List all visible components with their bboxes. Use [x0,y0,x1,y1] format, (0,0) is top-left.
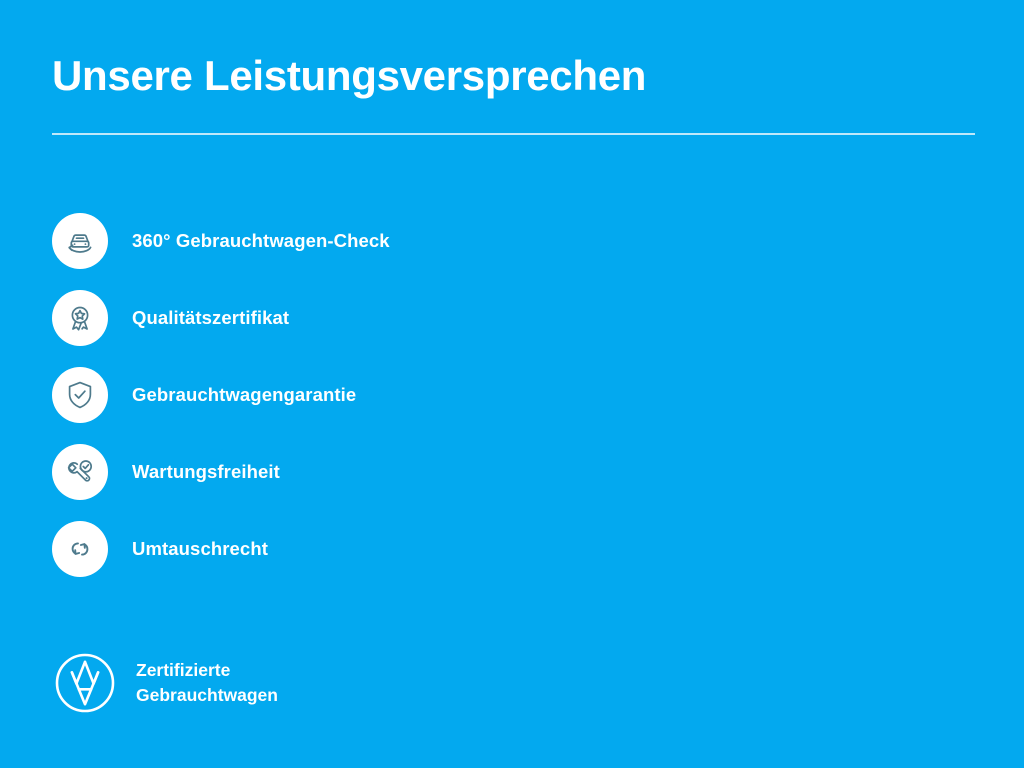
benefit-label: 360° Gebrauchtwagen-Check [132,230,390,252]
benefit-item[interactable]: Versicherungsangebote [520,279,1024,356]
brand-line-2: Gebrauchtwagen [136,683,278,708]
benefit-item[interactable]: Wartungsfreiheit [0,433,520,510]
volkswagen-logo [52,650,118,716]
promo-slide: Unsere Leistungsversprechen 360° Gebrauc… [0,0,1024,768]
header: Unsere Leistungsversprechen [52,52,976,99]
brand-lockup: Zertifizierte Gebrauchtwagen [52,650,278,716]
benefit-label: Wartungsfreiheit [132,461,280,483]
benefit-item[interactable]: Inzahlungnahme [520,356,1024,433]
title-divider [52,133,975,135]
benefit-label: Gebrauchtwagengarantie [132,384,356,406]
benefit-item[interactable]: Umtauschrecht [0,510,520,587]
benefit-item[interactable]: Mobilitätsgarantie [520,433,1024,510]
benefit-item[interactable]: Qualitätszertifikat [0,279,520,356]
benefit-item[interactable]: Ersatzmobilität [520,510,1024,587]
benefit-item[interactable]: Gebrauchtwagengarantie [0,356,520,433]
car-360-check-icon [52,213,108,269]
benefit-item[interactable]: Finanzdienstleistungen [520,202,1024,279]
shield-check-icon [52,367,108,423]
benefits-grid: 360° Gebrauchtwagen-Check Finanzdienstle… [0,202,1024,587]
page-title: Unsere Leistungsversprechen [52,52,976,99]
benefit-label: Qualitätszertifikat [132,307,289,329]
benefit-label: Umtauschrecht [132,538,268,560]
brand-line-1: Zertifizierte [136,658,278,683]
brand-text: Zertifizierte Gebrauchtwagen [136,658,278,708]
wrench-check-icon [52,444,108,500]
benefit-item[interactable]: 360° Gebrauchtwagen-Check [0,202,520,279]
exchange-arrows-icon [52,521,108,577]
award-medal-icon [52,290,108,346]
